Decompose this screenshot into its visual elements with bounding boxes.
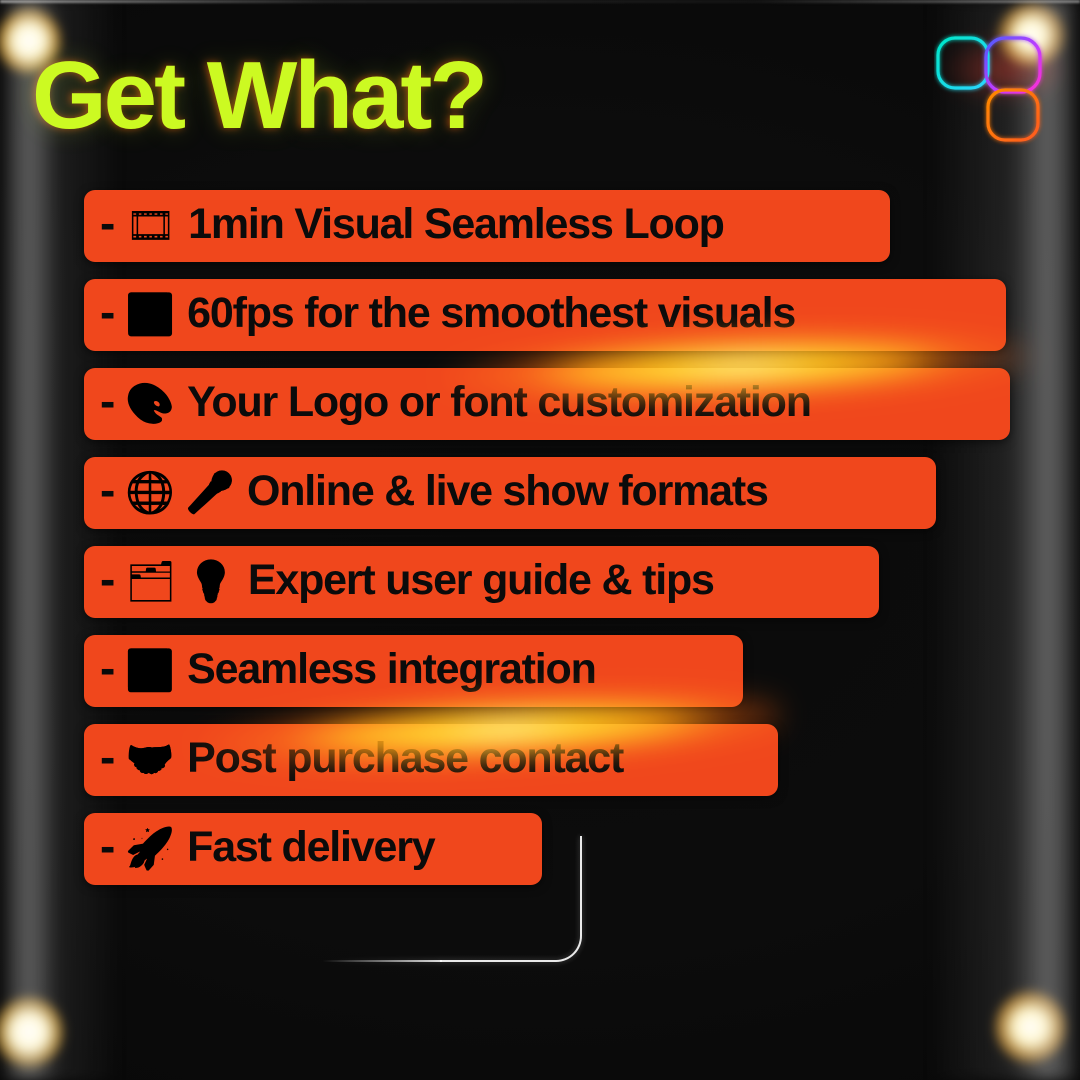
list-item-label: 1min Visual Seamless Loop — [188, 203, 724, 246]
bullet-dash: - — [100, 289, 115, 335]
bullet-dash: - — [100, 556, 115, 602]
film-frames-icon: 🎞 — [125, 206, 176, 246]
rocket-icon: 🚀 — [125, 829, 175, 869]
bullet-dash: - — [100, 823, 115, 869]
list-item[interactable]: - 🌐 🎤 Online & live show formats — [84, 457, 936, 529]
poster-canvas: Get What? Get What? — [0, 0, 1080, 1080]
handshake-icon: 🤝 — [125, 740, 175, 780]
cards-stack-icon: 🗂 — [125, 562, 176, 602]
list-item[interactable]: - 🎞 1min Visual Seamless Loop — [84, 190, 890, 262]
bullet-dash: - — [100, 378, 115, 424]
shuffle-icon: 🔀 — [125, 651, 175, 691]
list-item[interactable]: - ⏩ 60fps for the smoothest visuals — [84, 279, 1006, 351]
globe-icon: 🌐 — [125, 473, 175, 513]
corner-accent-line — [440, 836, 582, 962]
bullet-dash: - — [100, 645, 115, 691]
benefits-list: - 🎞 1min Visual Seamless Loop - ⏩ 60fps … — [84, 190, 1044, 902]
list-item-label: Post purchase contact — [187, 737, 623, 780]
list-item[interactable]: - 🤝 Post purchase contact — [84, 724, 778, 796]
fast-forward-icon: ⏩ — [125, 295, 175, 335]
list-item-label: Your Logo or font customization — [187, 381, 811, 424]
list-item[interactable]: - 🔀 Seamless integration — [84, 635, 743, 707]
list-item-label: Fast delivery — [187, 826, 434, 869]
list-item[interactable]: - 🗂 💡 Expert user guide & tips — [84, 546, 879, 618]
list-item-label: Expert user guide & tips — [248, 559, 714, 602]
three-rounded-squares-logo — [934, 28, 1058, 160]
palette-icon: 🎨 — [125, 384, 175, 424]
list-item[interactable]: - 🎨 Your Logo or font customization — [84, 368, 1010, 440]
bullet-dash: - — [100, 734, 115, 780]
page-title: Get What? — [32, 48, 485, 144]
list-item-label: Seamless integration — [187, 648, 596, 691]
top-highlight-line — [0, 0, 1080, 3]
microphone-icon: 🎤 — [185, 473, 235, 513]
lightbulb-icon: 💡 — [186, 562, 236, 602]
bullet-dash: - — [100, 200, 115, 246]
list-item-label: 60fps for the smoothest visuals — [187, 292, 795, 335]
bullet-dash: - — [100, 467, 115, 513]
list-item-label: Online & live show formats — [247, 470, 768, 513]
